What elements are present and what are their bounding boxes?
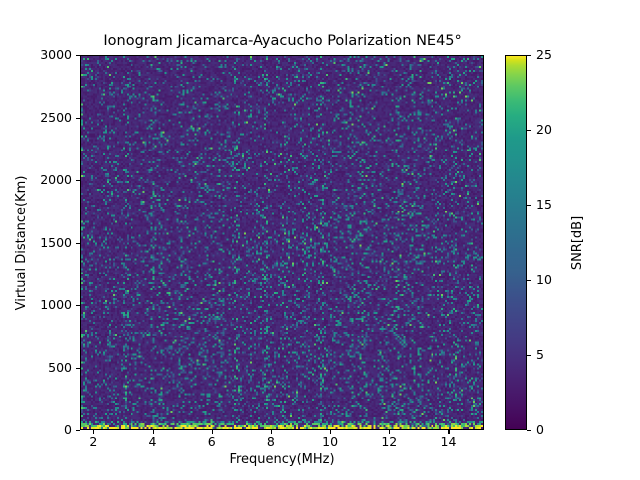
x-tick-label: 14 xyxy=(428,434,468,449)
x-tick-label: 4 xyxy=(133,434,173,449)
colorbar-tick-mark xyxy=(527,430,531,431)
x-tick-mark xyxy=(93,430,94,434)
x-tick-label: 8 xyxy=(251,434,291,449)
x-tick-mark xyxy=(271,430,272,434)
colorbar-label-text: SNR[dB] xyxy=(570,216,585,270)
y-tick-label: 2000 xyxy=(26,174,72,186)
y-tick-label: 2500 xyxy=(26,112,72,124)
x-tick-label: 10 xyxy=(310,434,350,449)
y-tick-label: 3000 xyxy=(26,49,72,61)
colorbar-tick-mark xyxy=(527,205,531,206)
x-tick-mark xyxy=(389,430,390,434)
y-tick-label: 500 xyxy=(26,362,72,374)
ionogram-plot-area[interactable] xyxy=(80,55,484,430)
colorbar-tick-mark xyxy=(527,280,531,281)
y-tick-mark xyxy=(76,118,80,119)
x-tick-mark xyxy=(330,430,331,434)
y-tick-mark xyxy=(76,430,80,431)
snr-colorbar[interactable] xyxy=(505,55,527,430)
y-tick-mark xyxy=(76,368,80,369)
y-tick-mark xyxy=(76,243,80,244)
y-tick-mark xyxy=(76,305,80,306)
ionogram-heatmap xyxy=(81,56,483,429)
colorbar-tick-mark xyxy=(527,55,531,56)
y-tick-label: 1000 xyxy=(26,299,72,311)
y-tick-mark xyxy=(76,55,80,56)
colorbar-label: SNR[dB] xyxy=(556,0,576,480)
title-line-1: Ionogram Jicamarca-Ayacucho Polarization… xyxy=(103,33,461,49)
y-axis-label: Virtual Distance(Km) xyxy=(0,0,18,480)
x-axis-label: Frequency(MHz) xyxy=(80,452,484,467)
x-tick-label: 6 xyxy=(192,434,232,449)
x-tick-label: 12 xyxy=(369,434,409,449)
y-tick-label: 0 xyxy=(26,424,72,436)
x-tick-label: 2 xyxy=(73,434,113,449)
x-tick-mark xyxy=(153,430,154,434)
x-tick-mark xyxy=(212,430,213,434)
colorbar-tick-mark xyxy=(527,130,531,131)
y-tick-mark xyxy=(76,180,80,181)
colorbar-tick-mark xyxy=(527,355,531,356)
x-tick-mark xyxy=(448,430,449,434)
y-tick-label: 1500 xyxy=(26,237,72,249)
